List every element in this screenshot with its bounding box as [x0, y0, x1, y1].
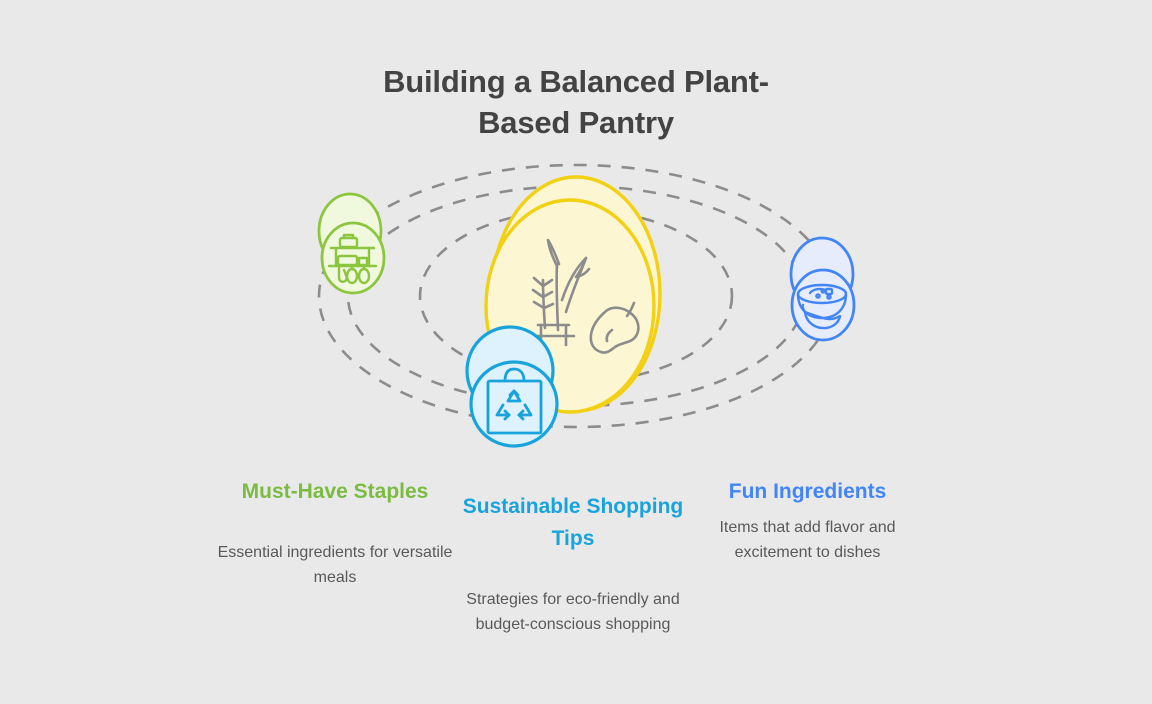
caption-heading-shopping: Sustainable Shopping Tips [462, 491, 684, 555]
page-title: Building a Balanced Plant- Based Pantry [286, 62, 866, 144]
bowl-chili-icon [798, 285, 846, 328]
caption-fun-ingredients: Fun Ingredients Items that add flavor an… [700, 476, 915, 566]
page-title-line-2: Based Pantry [478, 105, 674, 140]
caption-sustainable-shopping-tips: Sustainable Shopping Tips Strategies for… [462, 491, 684, 638]
wheat-herbs-pear-icon [533, 240, 638, 353]
node-center-produce [486, 177, 660, 412]
caption-heading-fun: Fun Ingredients [700, 476, 915, 508]
node-shopping [467, 327, 557, 446]
node-staples [319, 194, 384, 293]
page-title-line-1: Building a Balanced Plant- [383, 64, 769, 99]
shopping-blob-front [471, 362, 557, 446]
recycle-shopping-bag-icon [488, 369, 541, 433]
staples-blob-back [319, 194, 381, 268]
caption-must-have-staples: Must-Have Staples Essential ingredients … [215, 476, 455, 591]
shopping-blob-back [467, 327, 553, 415]
orbit-ring-1 [492, 238, 660, 354]
orbit-ring-4 [319, 165, 833, 427]
infographic-canvas: Building a Balanced Plant- Based Pantry [0, 0, 1152, 704]
orbit-ring-3 [348, 186, 804, 406]
caption-group: Must-Have Staples Essential ingredients … [0, 466, 1152, 686]
node-fun [791, 238, 854, 340]
caption-body-shopping: Strategies for eco-friendly and budget-c… [462, 588, 684, 638]
caption-body-staples: Essential ingredients for versatile meal… [215, 541, 455, 591]
staples-blob-front [322, 223, 384, 293]
orbit-ring-2 [420, 210, 732, 382]
pantry-shelf-icon [329, 235, 376, 283]
fun-blob-back [791, 238, 853, 310]
orbit-rings [319, 165, 833, 427]
center-produce-blob-front [486, 200, 654, 412]
caption-body-fun: Items that add flavor and excitement to … [700, 516, 915, 566]
caption-heading-staples: Must-Have Staples [215, 476, 455, 508]
center-produce-blob-back [492, 177, 660, 411]
fun-blob-front [792, 270, 854, 340]
